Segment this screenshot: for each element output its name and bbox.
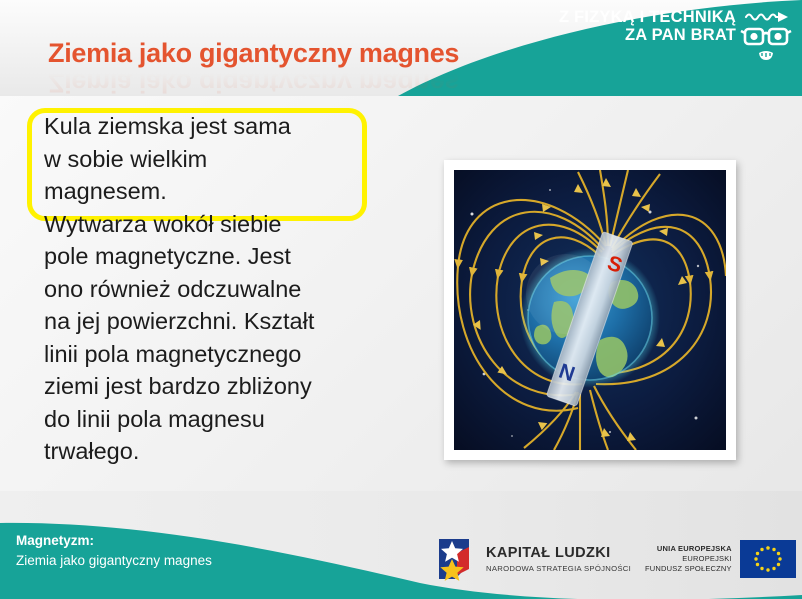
footer-title: Magnetyzm: bbox=[16, 531, 212, 551]
body-text-block: Kula ziemska jest sama w sobie wielkim m… bbox=[44, 110, 394, 468]
text-line: ziemi jest bardzo zbliżony bbox=[44, 370, 394, 403]
unia-europejska-text: UNIA EUROPEJSKA EUROPEJSKI FUNDUSZ SPOŁE… bbox=[645, 544, 732, 573]
page-title: Ziemia jako gigantyczny magnes bbox=[48, 38, 459, 69]
footer-subtitle: Ziemia jako gigantyczny magnes bbox=[16, 551, 212, 571]
text-line: ono również odczuwalne bbox=[44, 273, 394, 306]
page-title-reflection: Ziemia jako gigantyczny magnes bbox=[48, 67, 459, 98]
text-line: magnesem. bbox=[44, 175, 394, 208]
text-line: do linii pola magnesu bbox=[44, 403, 394, 436]
brand-line-2: ZA PAN BRAT bbox=[559, 26, 736, 44]
text-line: w sobie wielkim bbox=[44, 143, 394, 176]
eu-flag-icon bbox=[740, 540, 796, 578]
unia-europejska-logo-group: UNIA EUROPEJSKA EUROPEJSKI FUNDUSZ SPOŁE… bbox=[645, 540, 796, 578]
earth-magnetic-field-illustration: S N bbox=[454, 170, 726, 450]
text-line: na jej powierzchni. Kształt bbox=[44, 305, 394, 338]
kapital-ludzki-title: KAPITAŁ LUDZKI bbox=[486, 545, 631, 562]
eu-line-1: UNIA EUROPEJSKA bbox=[645, 544, 732, 554]
kapital-ludzki-subtitle: NARODOWA STRATEGIA SPÓJNOŚCI bbox=[486, 564, 631, 573]
page-title-wrapper: Ziemia jako gigantyczny magnes Ziemia ja… bbox=[48, 38, 459, 98]
kapital-ludzki-logo-group: KAPITAŁ LUDZKI NARODOWA STRATEGIA SPÓJNO… bbox=[435, 535, 631, 583]
text-line: pole magnetyczne. Jest bbox=[44, 240, 394, 273]
footer-section-label: Magnetyzm: Ziemia jako gigantyczny magne… bbox=[16, 531, 212, 570]
presentation-slide: Z FIZYKĄ I TECHNIKĄ ZA PAN BRAT Ziemia j… bbox=[0, 0, 802, 599]
text-line: Wytwarza wokół siebie bbox=[44, 208, 394, 241]
text-line: Kula ziemska jest sama bbox=[44, 110, 394, 143]
kapital-ludzki-text: KAPITAŁ LUDZKI NARODOWA STRATEGIA SPÓJNO… bbox=[486, 545, 631, 574]
eu-line-2: EUROPEJSKI bbox=[645, 554, 732, 564]
nerd-face-glasses-icon bbox=[740, 6, 794, 66]
eu-line-3: FUNDUSZ SPOŁECZNY bbox=[645, 564, 732, 574]
figure-frame: S N bbox=[444, 160, 736, 460]
kapital-ludzki-stars-logo bbox=[435, 535, 477, 583]
header-brand-text: Z FIZYKĄ I TECHNIKĄ ZA PAN BRAT bbox=[559, 8, 736, 45]
brand-line-1: Z FIZYKĄ I TECHNIKĄ bbox=[559, 8, 736, 26]
text-line: linii pola magnetycznego bbox=[44, 338, 394, 371]
text-line: trwałego. bbox=[44, 435, 394, 468]
